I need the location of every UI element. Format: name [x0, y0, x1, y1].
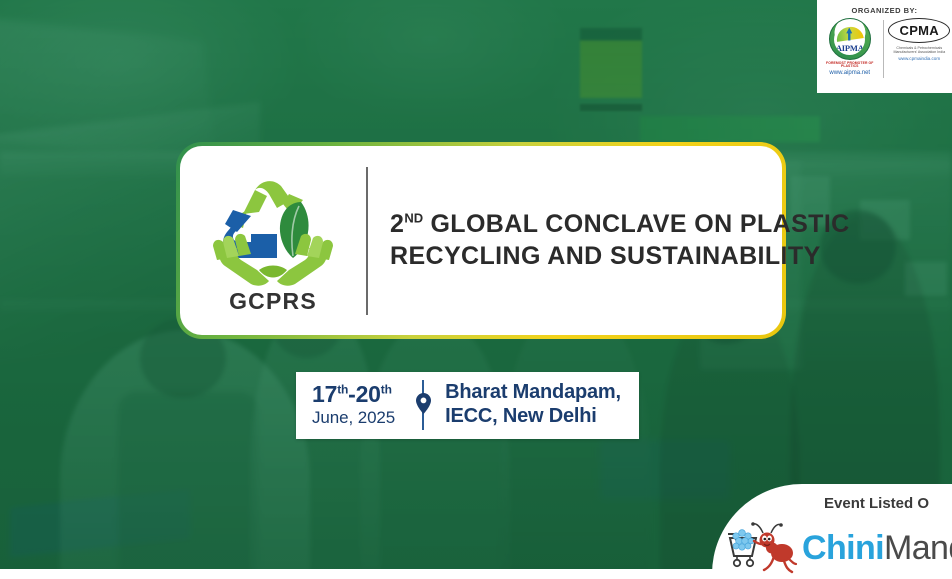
event-date: 17th-20th June, 2025: [312, 382, 395, 427]
event-title-card: GCPRS 2ND GLOBAL CONCLAVE ON PLASTIC REC…: [176, 142, 786, 339]
event-title-line1: 2ND GLOBAL CONCLAVE ON PLASTIC: [390, 209, 850, 241]
event-listed-on-label: Event Listed O: [824, 495, 929, 512]
venue-line2: IECC, New Delhi: [445, 405, 621, 429]
chinimandi-brand-first: Chini: [802, 529, 884, 567]
title-line1-rest: GLOBAL CONCLAVE ON PLASTIC: [423, 210, 850, 238]
event-month-year: June, 2025: [312, 409, 395, 427]
hands-recycle-leaf-icon: [207, 166, 339, 292]
ant-with-sugar-cart-mascot-icon: [726, 520, 800, 576]
date-venue-bar: 17th-20th June, 2025 Bharat Mandapam, IE…: [296, 372, 639, 439]
date-day-end-suffix: th: [381, 383, 392, 397]
event-title-line2: RECYCLING AND SUSTAINABILITY: [390, 241, 850, 273]
aipma-seal-icon: AIPMA: [829, 18, 871, 60]
card-vertical-divider: [366, 167, 368, 315]
event-banner: ORGANIZED BY: AIPMA FOREMOST PROMOTER OF…: [0, 0, 952, 579]
event-title: 2ND GLOBAL CONCLAVE ON PLASTIC RECYCLING…: [390, 209, 850, 272]
aipma-tagline: FOREMOST PROMOTER OF PLASTICS: [817, 62, 883, 69]
chinimandi-brand-second: Mandi: [884, 529, 952, 567]
chinimandi-wordmark: ChiniMandi: [802, 531, 952, 565]
organized-by-heading: ORGANIZED BY:: [817, 6, 952, 15]
venue-line1: Bharat Mandapam,: [445, 381, 621, 405]
cpma-logo: CPMA Chemicals & Petrochemicals Manufact…: [887, 18, 952, 61]
gcprs-logo: GCPRS: [198, 166, 348, 315]
event-venue: Bharat Mandapam, IECC, New Delhi: [445, 381, 621, 428]
date-day-end: 20: [356, 381, 381, 407]
event-date-range: 17th-20th: [312, 382, 395, 407]
aipma-url: www.aipma.net: [829, 70, 870, 76]
info-bar-divider: [409, 379, 437, 431]
title-ordinal: 2: [390, 210, 404, 238]
cpma-oval-icon: CPMA: [888, 18, 950, 43]
location-pin-icon: [416, 393, 431, 414]
organized-by-panel: ORGANIZED BY: AIPMA FOREMOST PROMOTER OF…: [817, 0, 952, 93]
date-day-start: 17: [312, 381, 337, 407]
aipma-logo: AIPMA FOREMOST PROMOTER OF PLASTICS www.…: [817, 18, 883, 76]
aipma-wordmark: AIPMA: [836, 44, 864, 53]
organized-by-divider: [883, 20, 884, 78]
cpma-wordmark: CPMA: [900, 23, 939, 38]
date-day-start-suffix: th: [337, 383, 348, 397]
cpma-subtitle: Chemicals & Petrochemicals Manufacturers…: [887, 46, 951, 55]
title-ordinal-suffix: ND: [404, 211, 423, 226]
date-dash: -: [348, 381, 355, 407]
gcprs-wordmark: GCPRS: [229, 288, 317, 315]
cpma-url: www.cpmaindia.com: [898, 56, 940, 61]
